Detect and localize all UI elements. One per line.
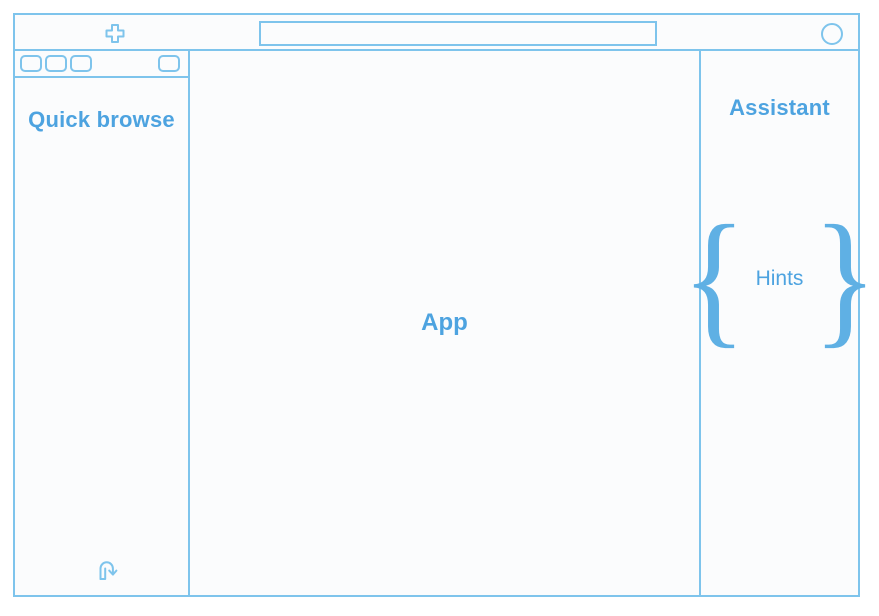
app-label: App bbox=[190, 309, 699, 337]
sidebar-panel: Quick browse bbox=[15, 51, 190, 595]
assistant-heading: Assistant bbox=[705, 95, 854, 121]
toolbar-button-right[interactable] bbox=[158, 55, 180, 72]
plus-icon bbox=[103, 23, 127, 45]
undo-button[interactable] bbox=[91, 555, 125, 585]
hints-block: { Hints } bbox=[701, 206, 858, 351]
brace-close-icon: } bbox=[813, 220, 878, 337]
app-content-panel: App bbox=[190, 51, 699, 595]
toolbar-button-3[interactable] bbox=[70, 55, 92, 72]
search-input[interactable] bbox=[259, 21, 657, 46]
assistant-panel: Assistant { Hints } bbox=[699, 51, 858, 595]
app-header bbox=[15, 15, 858, 51]
toolbar-button-1[interactable] bbox=[20, 55, 42, 72]
brace-open-icon: { bbox=[681, 220, 746, 337]
body-row: Quick browse App Assistant { Hints bbox=[15, 51, 858, 595]
profile-button[interactable] bbox=[819, 21, 845, 47]
wireframe-window: Quick browse App Assistant { Hints bbox=[13, 13, 860, 597]
circle-avatar-icon bbox=[821, 23, 843, 45]
sidebar-heading: Quick browse bbox=[21, 107, 182, 134]
toolbar-button-2[interactable] bbox=[45, 55, 67, 72]
hints-label: Hints bbox=[756, 267, 804, 291]
add-button[interactable] bbox=[101, 22, 129, 46]
u-turn-arrow-icon bbox=[94, 557, 122, 583]
sidebar-toolbar bbox=[15, 51, 188, 78]
